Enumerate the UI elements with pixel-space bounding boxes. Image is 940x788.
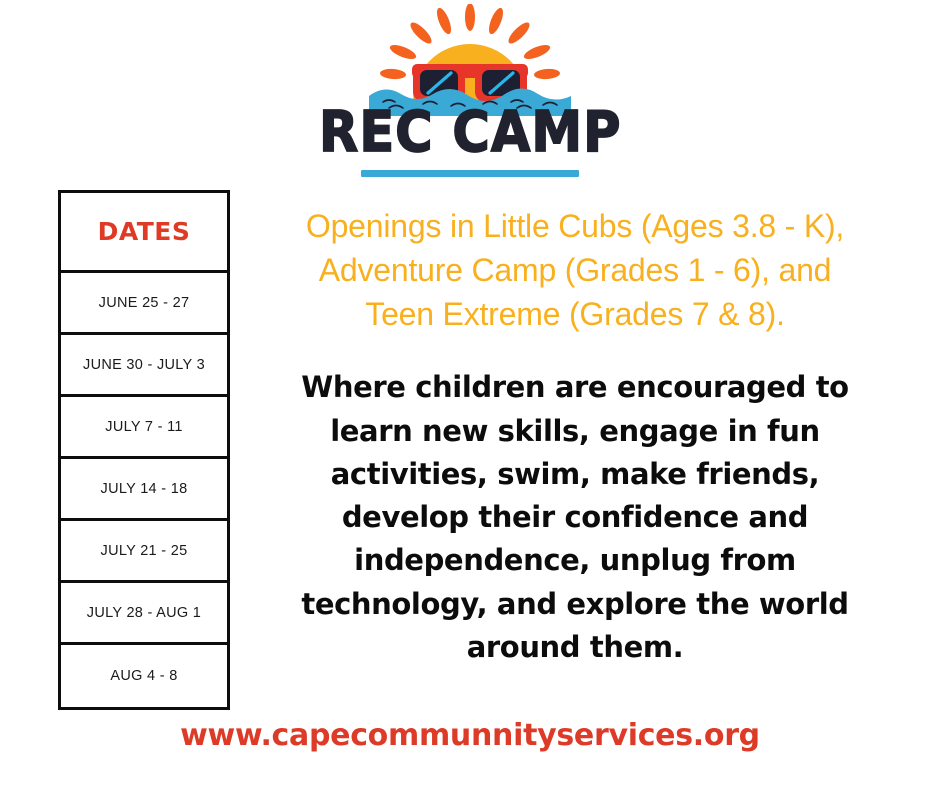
logo-underline-rule xyxy=(361,170,579,177)
headline: Openings in Little Cubs (Ages 3.8 - K), … xyxy=(262,205,888,336)
rec-camp-flyer: REC CAMP DATES JUNE 25 - 27 JUNE 30 - JU… xyxy=(0,0,940,788)
table-row: JULY 14 - 18 xyxy=(61,459,227,521)
table-row: AUG 4 - 8 xyxy=(61,645,227,707)
dates-table: DATES JUNE 25 - 27 JUNE 30 - JULY 3 JULY… xyxy=(58,190,230,710)
body-copy-line: Where children are encouraged to xyxy=(262,366,888,409)
table-row: JULY 21 - 25 xyxy=(61,521,227,583)
logo-wordmark-text: REC CAMP xyxy=(319,104,621,162)
content-column: Openings in Little Cubs (Ages 3.8 - K), … xyxy=(262,205,888,669)
date-range-label: JULY 7 - 11 xyxy=(105,419,182,435)
table-row: JULY 7 - 11 xyxy=(61,397,227,459)
table-row: JULY 28 - AUG 1 xyxy=(61,583,227,645)
website-url[interactable]: www.capecommunnityservices.org xyxy=(0,718,940,753)
body-copy: Where children are encouraged to learn n… xyxy=(262,366,888,668)
date-range-label: JULY 21 - 25 xyxy=(101,543,188,559)
body-copy-line: activities, swim, make friends, xyxy=(262,453,888,496)
date-range-label: JUNE 30 - JULY 3 xyxy=(83,357,205,373)
date-range-label: JULY 14 - 18 xyxy=(101,481,188,497)
body-copy-line: independence, unplug from xyxy=(262,539,888,582)
logo-wordmark: REC CAMP xyxy=(359,110,581,177)
body-copy-line: learn new skills, engage in fun xyxy=(262,410,888,453)
table-row: JUNE 25 - 27 xyxy=(61,273,227,335)
headline-line: Openings in Little Cubs (Ages 3.8 - K), xyxy=(262,205,888,249)
date-range-label: JUNE 25 - 27 xyxy=(99,295,190,311)
body-copy-line: around them. xyxy=(262,626,888,669)
table-row: JUNE 30 - JULY 3 xyxy=(61,335,227,397)
dates-table-header-label: DATES xyxy=(98,217,191,246)
body-copy-line: develop their confidence and xyxy=(262,496,888,539)
headline-line: Teen Extreme (Grades 7 & 8). xyxy=(262,293,888,337)
body-copy-line: technology, and explore the world xyxy=(262,583,888,626)
headline-line: Adventure Camp (Grades 1 - 6), and xyxy=(262,249,888,293)
date-range-label: JULY 28 - AUG 1 xyxy=(87,605,201,621)
date-range-label: AUG 4 - 8 xyxy=(110,668,177,684)
logo-block: REC CAMP xyxy=(0,4,940,184)
dates-table-header: DATES xyxy=(61,193,227,273)
